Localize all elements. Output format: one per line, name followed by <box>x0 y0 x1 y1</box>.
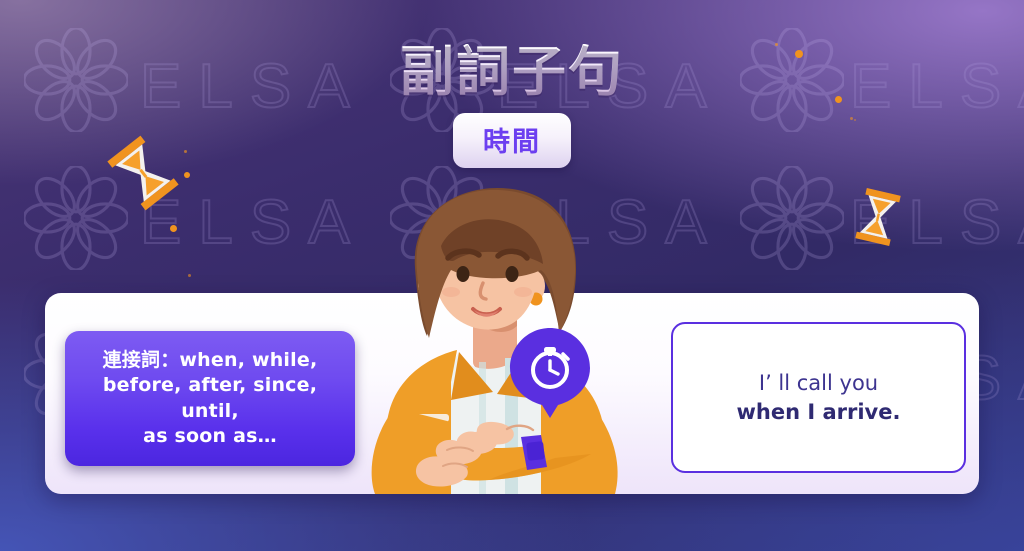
example-line-1: I’ ll call you <box>759 370 878 396</box>
example-sentence-card[interactable]: I’ ll call you when I arrive. <box>671 322 966 473</box>
elsa-star-flower-icon <box>740 166 844 270</box>
conjunction-text: 連接詞：when, while,before, after, since, un… <box>65 348 355 449</box>
slide-canvas: ELSA ELSA ELSA ELSA ELSA ELSA ELSA ELSA … <box>0 0 1024 551</box>
character-illustration <box>355 186 675 494</box>
elsa-watermark: ELSA <box>140 192 367 254</box>
hourglass-icon <box>842 178 913 255</box>
conjunction-card[interactable]: 連接詞：when, while,before, after, since, un… <box>65 331 355 466</box>
example-line-2: when I arrive. <box>737 399 901 425</box>
decor-dot <box>170 225 177 232</box>
topic-badge: 時間 <box>453 113 571 168</box>
decor-dot <box>188 274 191 277</box>
title-block: 副詞子句 時間 <box>0 44 1024 168</box>
page-title: 副詞子句 <box>0 44 1024 101</box>
